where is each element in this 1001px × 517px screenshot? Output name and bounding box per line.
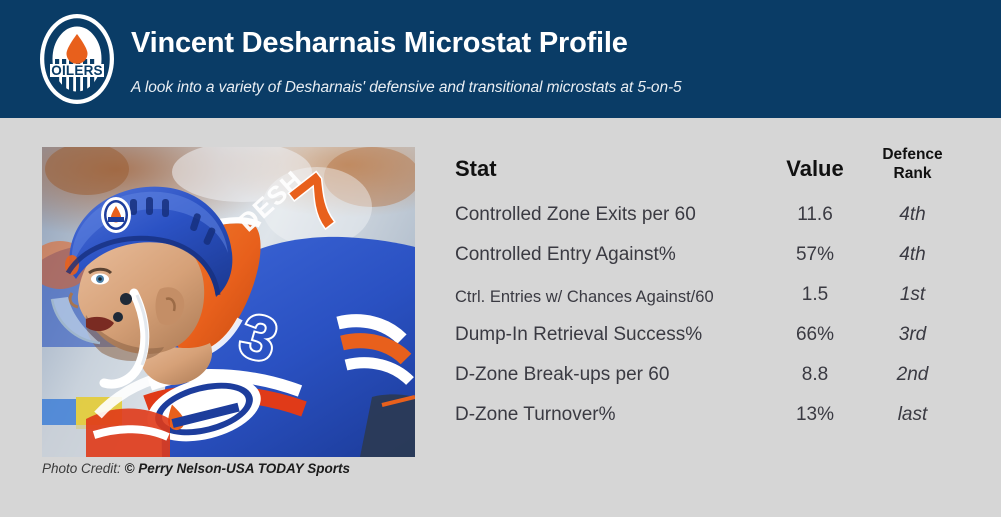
- table-row: Dump-In Retrieval Success% 66% 3rd: [455, 318, 965, 358]
- column-header-stat: Stat: [455, 156, 497, 181]
- stat-name: D-Zone Turnover%: [455, 404, 616, 426]
- stat-value: 57%: [765, 244, 865, 266]
- column-header-value: Value: [765, 156, 865, 181]
- stat-rank: 4th: [860, 204, 965, 226]
- stat-name: Controlled Zone Exits per 60: [455, 204, 696, 226]
- infographic-canvas: OILERS Vincent Desharnais Microstat Prof…: [0, 0, 1001, 517]
- stat-rank: 1st: [860, 284, 965, 306]
- table-row: D-Zone Turnover% 13% last: [455, 398, 965, 438]
- table-row: Ctrl. Entries w/ Chances Against/60 1.5 …: [455, 278, 965, 318]
- column-header-defence-rank-line2: Rank: [860, 164, 965, 183]
- photo-credit-prefix: Photo Credit:: [42, 461, 125, 476]
- oilers-logo: OILERS: [38, 12, 116, 106]
- stat-name: Controlled Entry Against%: [455, 244, 676, 266]
- column-header-defence-rank-line1: Defence: [860, 145, 965, 164]
- player-photo: DESH 7 3: [42, 147, 415, 457]
- microstat-table: Stat Value Defence Rank Controlled Zone …: [455, 146, 965, 438]
- table-row: Controlled Entry Against% 57% 4th: [455, 238, 965, 278]
- stat-value: 8.8: [765, 364, 865, 386]
- stat-name: D-Zone Break-ups per 60: [455, 364, 669, 386]
- stat-value: 66%: [765, 324, 865, 346]
- stat-rank: 4th: [860, 244, 965, 266]
- stat-rank: 3rd: [860, 324, 965, 346]
- stat-value: 11.6: [765, 204, 865, 226]
- svg-text:OILERS: OILERS: [51, 63, 102, 78]
- page-subtitle: A look into a variety of Desharnais' def…: [131, 79, 971, 97]
- table-row: Controlled Zone Exits per 60 11.6 4th: [455, 198, 965, 238]
- stat-name: Ctrl. Entries w/ Chances Against/60: [455, 286, 714, 308]
- stat-name: Dump-In Retrieval Success%: [455, 324, 702, 346]
- stat-rank: last: [860, 404, 965, 426]
- header-text-block: Vincent Desharnais Microstat Profile A l…: [131, 26, 971, 97]
- header-banner: OILERS Vincent Desharnais Microstat Prof…: [0, 0, 1001, 118]
- photo-credit-source: © Perry Nelson-USA TODAY Sports: [125, 461, 351, 476]
- table-row: D-Zone Break-ups per 60 8.8 2nd: [455, 358, 965, 398]
- stat-value: 13%: [765, 404, 865, 426]
- column-header-defence-rank: Defence Rank: [860, 145, 965, 183]
- table-header-row: Stat Value Defence Rank: [455, 146, 965, 198]
- page-title: Vincent Desharnais Microstat Profile: [131, 26, 971, 60]
- stat-value: 1.5: [765, 284, 865, 306]
- photo-credit: Photo Credit: © Perry Nelson-USA TODAY S…: [42, 461, 350, 477]
- stat-rank: 2nd: [860, 364, 965, 386]
